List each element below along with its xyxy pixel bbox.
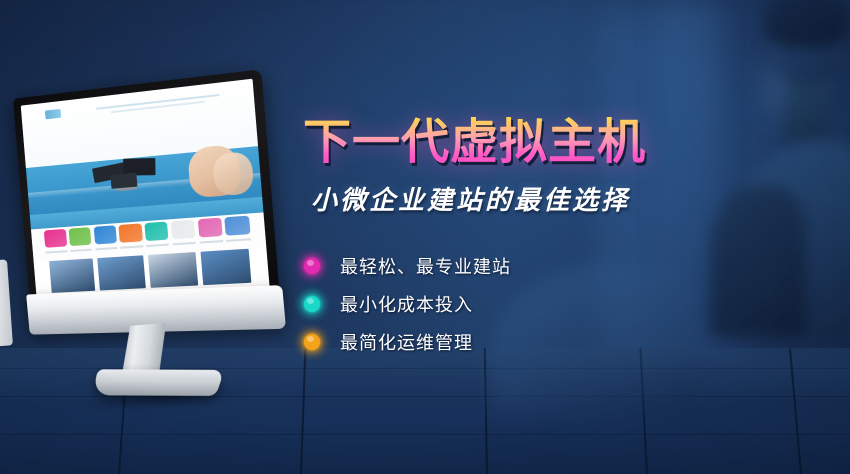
- website-image-tile: [98, 255, 146, 290]
- monitor-screen: [21, 79, 270, 302]
- floor-line-horizontal: [0, 434, 850, 435]
- website-image-tile: [200, 249, 251, 285]
- feature-item: 最小化成本投入: [304, 286, 511, 322]
- website-app-icon: [224, 215, 250, 236]
- bullet-dot-orange: [304, 334, 320, 350]
- website-app-icon: [69, 227, 92, 246]
- bullet-dot-magenta: [304, 258, 320, 274]
- page-title: 下一代虚拟主机: [303, 102, 646, 172]
- page-subtitle: 小微企业建站的最佳选择: [311, 180, 630, 217]
- feature-item: 最简化运维管理: [304, 324, 511, 360]
- desktop-monitor: [0, 72, 300, 426]
- bullet-dot-teal: [304, 296, 320, 312]
- feature-item-label: 最简化运维管理: [340, 329, 473, 355]
- website-app-icon: [144, 221, 168, 241]
- website-app-icon: [93, 225, 117, 245]
- feature-list: 最轻松、最专业建站最小化成本投入最简化运维管理: [304, 248, 511, 362]
- website-logo-icon: [45, 109, 61, 119]
- website-app-icon: [171, 219, 196, 239]
- website-app-icon: [197, 217, 222, 237]
- blurred-person-silhouette: [714, 0, 850, 320]
- website-device-mockup: [92, 153, 175, 209]
- website-image-tile: [49, 259, 96, 293]
- hero-banner: 下一代虚拟主机 小微企业建站的最佳选择 最轻松、最专业建站最小化成本投入最简化运…: [0, 0, 850, 474]
- website-image-tile: [148, 252, 198, 287]
- website-app-icon: [44, 228, 67, 247]
- monitor-bezel: [13, 69, 280, 311]
- website-nav-line: [111, 101, 205, 113]
- feature-item: 最轻松、最专业建站: [304, 248, 511, 284]
- monitor-stand-foot: [90, 369, 225, 396]
- feature-item-label: 最轻松、最专业建站: [340, 253, 511, 279]
- website-app-icon: [119, 223, 143, 243]
- feature-item-label: 最小化成本投入: [340, 291, 473, 317]
- blurred-person-silhouette-secondary: [490, 214, 700, 414]
